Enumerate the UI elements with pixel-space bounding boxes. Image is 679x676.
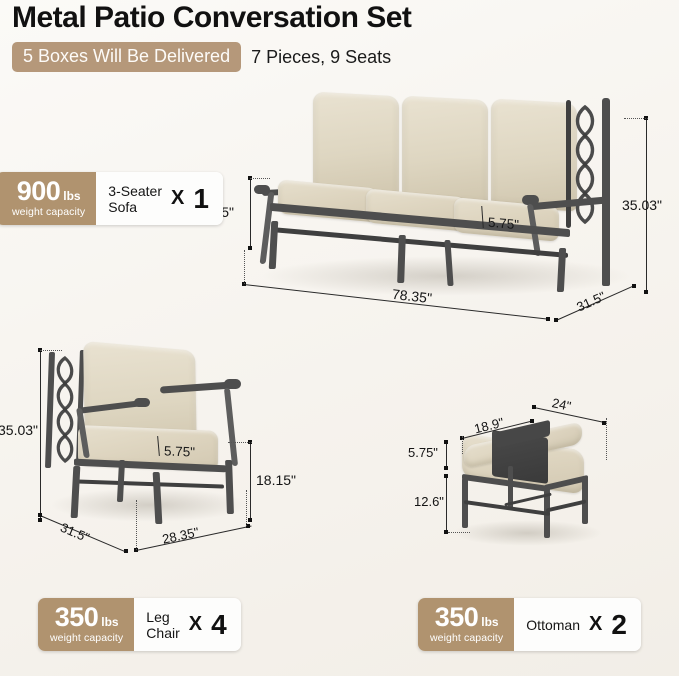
multiplier-symbol: X bbox=[189, 613, 202, 636]
sofa-overall-height-label: 35.03" bbox=[622, 197, 662, 213]
quantity-value: 2 bbox=[611, 611, 627, 639]
chair-illustration: 5.75" bbox=[42, 348, 262, 538]
quantity-value: 1 bbox=[193, 185, 209, 213]
sofa-depth-label: 31.5" bbox=[574, 289, 607, 315]
multiplier-symbol: X bbox=[171, 187, 184, 210]
sofa-right-lattice-panel bbox=[568, 103, 602, 225]
ottoman-cushion-thickness-label: 5.75" bbox=[408, 445, 438, 460]
sofa-seat-height-ext-top bbox=[250, 178, 270, 179]
chair-width-ext-left bbox=[136, 500, 137, 550]
sofa-width-dim: 78.35" bbox=[244, 284, 554, 320]
quantity-value: 4 bbox=[211, 611, 227, 639]
sofa-back-cushion-2 bbox=[402, 96, 488, 208]
capacity-badge-sofa: 900 lbs weight capacity 3-Seater Sofa X … bbox=[0, 172, 223, 225]
chair-right-arm-support bbox=[224, 388, 238, 466]
item-name-line2: Chair bbox=[146, 625, 179, 641]
ottoman-stretcher-right bbox=[546, 499, 586, 512]
pieces-seats-text: 7 Pieces, 9 Seats bbox=[251, 47, 391, 68]
capacity-badge-ottoman-right: Ottoman X 2 bbox=[514, 598, 641, 651]
capacity-label: weight capacity bbox=[430, 632, 503, 644]
capacity-badge-chair-value-row: 350 lbs bbox=[55, 604, 119, 631]
chair-overall-height-label: 35.03" bbox=[0, 422, 38, 438]
chair-seat-height-ext-top bbox=[228, 442, 252, 443]
lattice-ornament-icon bbox=[568, 103, 602, 225]
chair-leg-rear-right bbox=[225, 460, 234, 514]
item-name-line1: 3-Seater bbox=[108, 183, 162, 199]
chair-overall-height-ext-top bbox=[40, 350, 62, 351]
ottoman-height-ext bbox=[448, 532, 470, 533]
header-subrow: 5 Boxes Will Be Delivered 7 Pieces, 9 Se… bbox=[12, 42, 391, 72]
chair-cushion-thickness-label: 5.75" bbox=[164, 443, 195, 459]
capacity-badge-ottoman-left: 350 lbs weight capacity bbox=[418, 598, 514, 651]
capacity-badge-chair-itemname: Leg Chair bbox=[146, 609, 179, 641]
capacity-badge-chair-left: 350 lbs weight capacity bbox=[38, 598, 134, 651]
capacity-badge-chair-right: Leg Chair X 4 bbox=[134, 598, 240, 651]
capacity-badge-sofa-right: 3-Seater Sofa X 1 bbox=[96, 172, 223, 225]
capacity-unit: lbs bbox=[63, 189, 80, 203]
capacity-label: weight capacity bbox=[12, 206, 85, 218]
chair-width-dim: 28.35" bbox=[136, 524, 260, 554]
sofa-leg-rear-right bbox=[602, 238, 610, 286]
capacity-value: 350 bbox=[55, 604, 99, 631]
item-name-line2: Sofa bbox=[108, 199, 162, 215]
chair-depth-label: 31.5" bbox=[58, 520, 91, 545]
capacity-value: 900 bbox=[17, 178, 61, 205]
chair-width-ext-right bbox=[246, 490, 247, 526]
sofa-leg-front-left bbox=[269, 221, 279, 269]
capacity-badge-sofa-left: 900 lbs weight capacity bbox=[0, 172, 96, 225]
capacity-badge-chair: 350 lbs weight capacity Leg Chair X 4 bbox=[38, 598, 241, 651]
ottoman-depth-dim: 18.9" bbox=[462, 420, 540, 442]
chair-left-arm-scroll bbox=[134, 398, 150, 407]
sofa-width-label: 78.35" bbox=[391, 286, 433, 306]
ottoman-illustration bbox=[448, 432, 608, 542]
chair-seat-height-label: 18.15" bbox=[256, 472, 296, 488]
sofa-depth-dim: 31.5" bbox=[556, 286, 646, 326]
sofa-right-post-inner bbox=[566, 100, 571, 228]
sofa-width-ext-left bbox=[244, 250, 245, 284]
page-title: Metal Patio Conversation Set bbox=[12, 0, 652, 36]
capacity-unit: lbs bbox=[481, 615, 498, 629]
ottoman-floor-shadow bbox=[452, 520, 602, 546]
capacity-label: weight capacity bbox=[50, 632, 123, 644]
capacity-value: 350 bbox=[435, 604, 479, 631]
capacity-badge-ottoman-value-row: 350 lbs bbox=[435, 604, 499, 631]
ottoman-width-dim: 24" bbox=[534, 405, 612, 427]
capacity-unit: lbs bbox=[101, 615, 118, 629]
capacity-badge-sofa-value-row: 900 lbs bbox=[17, 178, 81, 205]
ottoman-width-ext-right bbox=[606, 418, 607, 460]
ottoman-height-label: 12.6" bbox=[414, 494, 444, 509]
multiplier-symbol: X bbox=[589, 613, 602, 636]
boxes-delivered-badge: 5 Boxes Will Be Delivered bbox=[12, 42, 241, 72]
chair-depth-dim: 31.5" bbox=[40, 515, 140, 551]
sofa-cushion-thickness-label: 5.75" bbox=[488, 215, 519, 233]
item-name-line1: Ottoman bbox=[526, 617, 580, 633]
ottoman-depth-label: 18.9" bbox=[473, 415, 506, 437]
capacity-badge-sofa-itemname: 3-Seater Sofa bbox=[108, 183, 162, 215]
sofa-overall-height-ext-top bbox=[624, 118, 648, 119]
infographic-canvas: Metal Patio Conversation Set 5 Boxes Wil… bbox=[0, 0, 679, 676]
item-name-line1: Leg bbox=[146, 609, 179, 625]
capacity-badge-ottoman: 350 lbs weight capacity Ottoman X 2 bbox=[418, 598, 641, 651]
ottoman-depth-ext-left bbox=[462, 436, 463, 454]
chair-width-label: 28.35" bbox=[161, 524, 200, 546]
chair-leg-front-right bbox=[153, 472, 163, 524]
